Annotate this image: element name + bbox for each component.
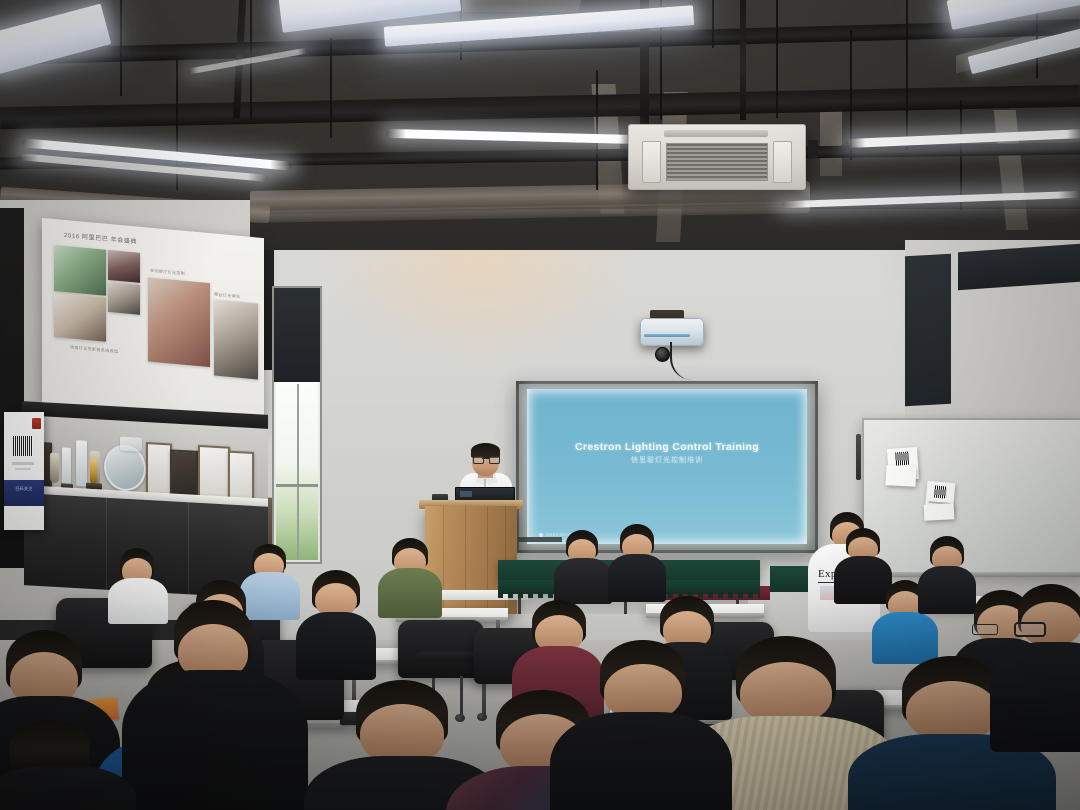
- presenter: [0, 0, 1080, 620]
- glasses-icon: [1014, 622, 1046, 637]
- attendee-body: [296, 612, 376, 680]
- attendee-head: [906, 681, 998, 741]
- attendee-body: [122, 670, 308, 810]
- glasses-icon: [473, 456, 498, 462]
- attendee: [570, 640, 710, 810]
- attendee: [378, 538, 442, 614]
- attendee: [998, 584, 1080, 734]
- glasses-bridge: [482, 458, 489, 459]
- attendee-head: [360, 704, 444, 764]
- attendee-body: [0, 766, 136, 810]
- office-chair[interactable]: [398, 620, 484, 678]
- attendee: [0, 720, 120, 810]
- attendee-body: [608, 554, 666, 602]
- attendee-head: [740, 662, 832, 724]
- attendee-body: [554, 558, 612, 604]
- glasses-icon: [972, 624, 998, 635]
- laptop-screen-glow: [460, 491, 472, 497]
- attendee-body: [550, 712, 732, 810]
- attendee: [556, 530, 610, 600]
- attendee-body: [990, 642, 1080, 752]
- attendee: [296, 570, 376, 670]
- attendee-body: [378, 568, 442, 618]
- attendee: [148, 600, 278, 810]
- training-room-photo: 2016 阿里巴巴 年会盛典 场馆灯光及影音系统改造 多功能厅灯光控制 舞台灯光…: [0, 0, 1080, 810]
- attendee: [608, 524, 666, 598]
- glasses-lens-right: [489, 456, 500, 464]
